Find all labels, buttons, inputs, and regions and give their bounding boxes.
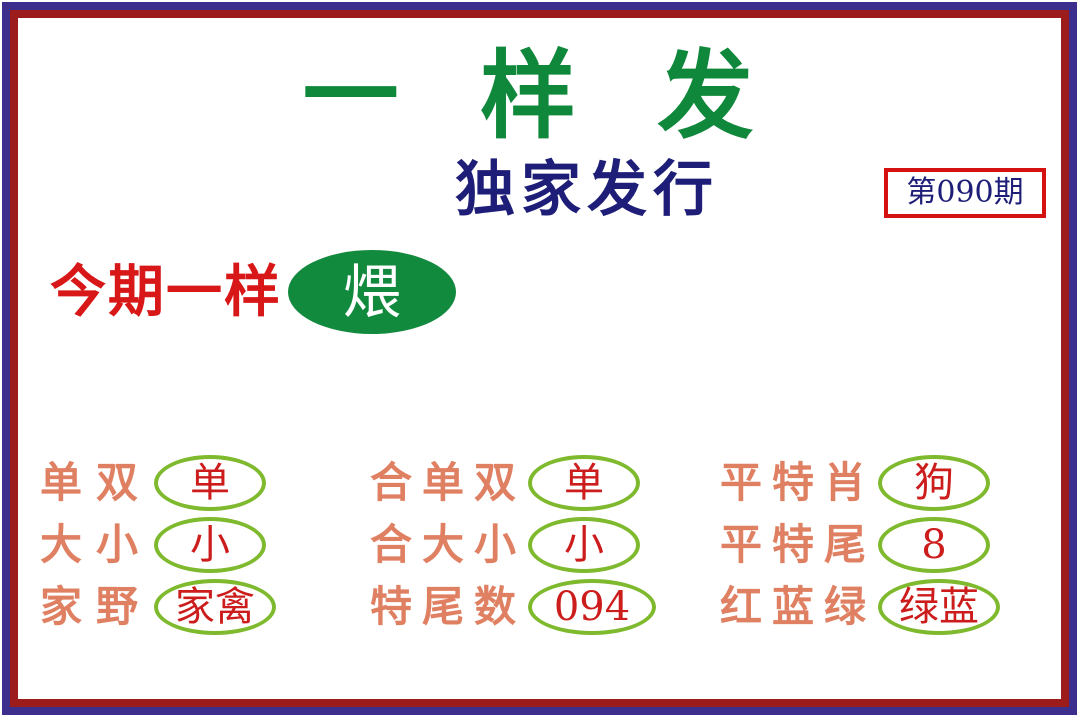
result-value-oval: 094 [528,579,656,635]
result-label: 家野 [40,586,152,628]
result-label: 红蓝绿 [720,586,876,628]
result-label: 平特尾 [720,524,876,566]
result-cell-pingtewei: 平特尾 8 [720,514,1040,576]
result-label: 合单双 [370,462,526,504]
result-cell-daxiao: 大小 小 [40,514,370,576]
result-cell-danshuang: 单双 单 [40,452,370,514]
result-value: 家禽 [175,587,255,627]
result-cell-hedanshuang: 合单双 单 [370,452,720,514]
result-label: 特尾数 [370,586,526,628]
result-value-oval: 8 [878,517,990,573]
issue-number-text: 第090期 [906,178,1023,208]
issue-number-badge: 第090期 [884,168,1046,218]
result-cell-teweishu: 特尾数 094 [370,576,720,638]
result-value: 狗 [914,463,954,503]
result-value-oval: 小 [528,517,640,573]
result-cell-honglanlv: 红蓝绿 绿蓝 [720,576,1040,638]
result-value: 8 [921,525,946,565]
result-label: 大小 [40,524,152,566]
result-value: 小 [564,525,604,565]
current-period-row: 今期一样 煨 [50,250,456,334]
result-value-oval: 单 [154,455,266,511]
result-value-oval: 单 [528,455,640,511]
current-period-bubble: 煨 [288,250,456,334]
result-value-oval: 狗 [878,455,990,511]
result-value: 单 [564,463,604,503]
result-value: 单 [190,463,230,503]
result-value: 094 [554,587,630,627]
poster-canvas: 一 样 发 独家发行 第090期 今期一样 煨 单双 单 合单双 单 [0,0,1080,718]
result-cell-jiaye: 家野 家禽 [40,576,370,638]
poster-root: 一 样 发 独家发行 第090期 今期一样 煨 单双 单 合单双 单 [0,0,1080,718]
result-label: 平特肖 [720,462,876,504]
result-label: 单双 [40,462,152,504]
current-period-label: 今期一样 [50,264,282,320]
result-value: 绿蓝 [899,587,979,627]
page-title: 一 样 发 [240,48,840,144]
page-subtitle: 独家发行 [455,160,719,220]
result-value-oval: 小 [154,517,266,573]
results-grid: 单双 单 合单双 单 平特肖 狗 大小 小 [40,452,1040,638]
result-label: 合大小 [370,524,526,566]
result-cell-hedaxiao: 合大小 小 [370,514,720,576]
result-value: 小 [190,525,230,565]
result-value-oval: 家禽 [154,579,276,635]
result-value-oval: 绿蓝 [878,579,1000,635]
result-cell-pingtexiao: 平特肖 狗 [720,452,1040,514]
current-period-character: 煨 [343,263,401,321]
